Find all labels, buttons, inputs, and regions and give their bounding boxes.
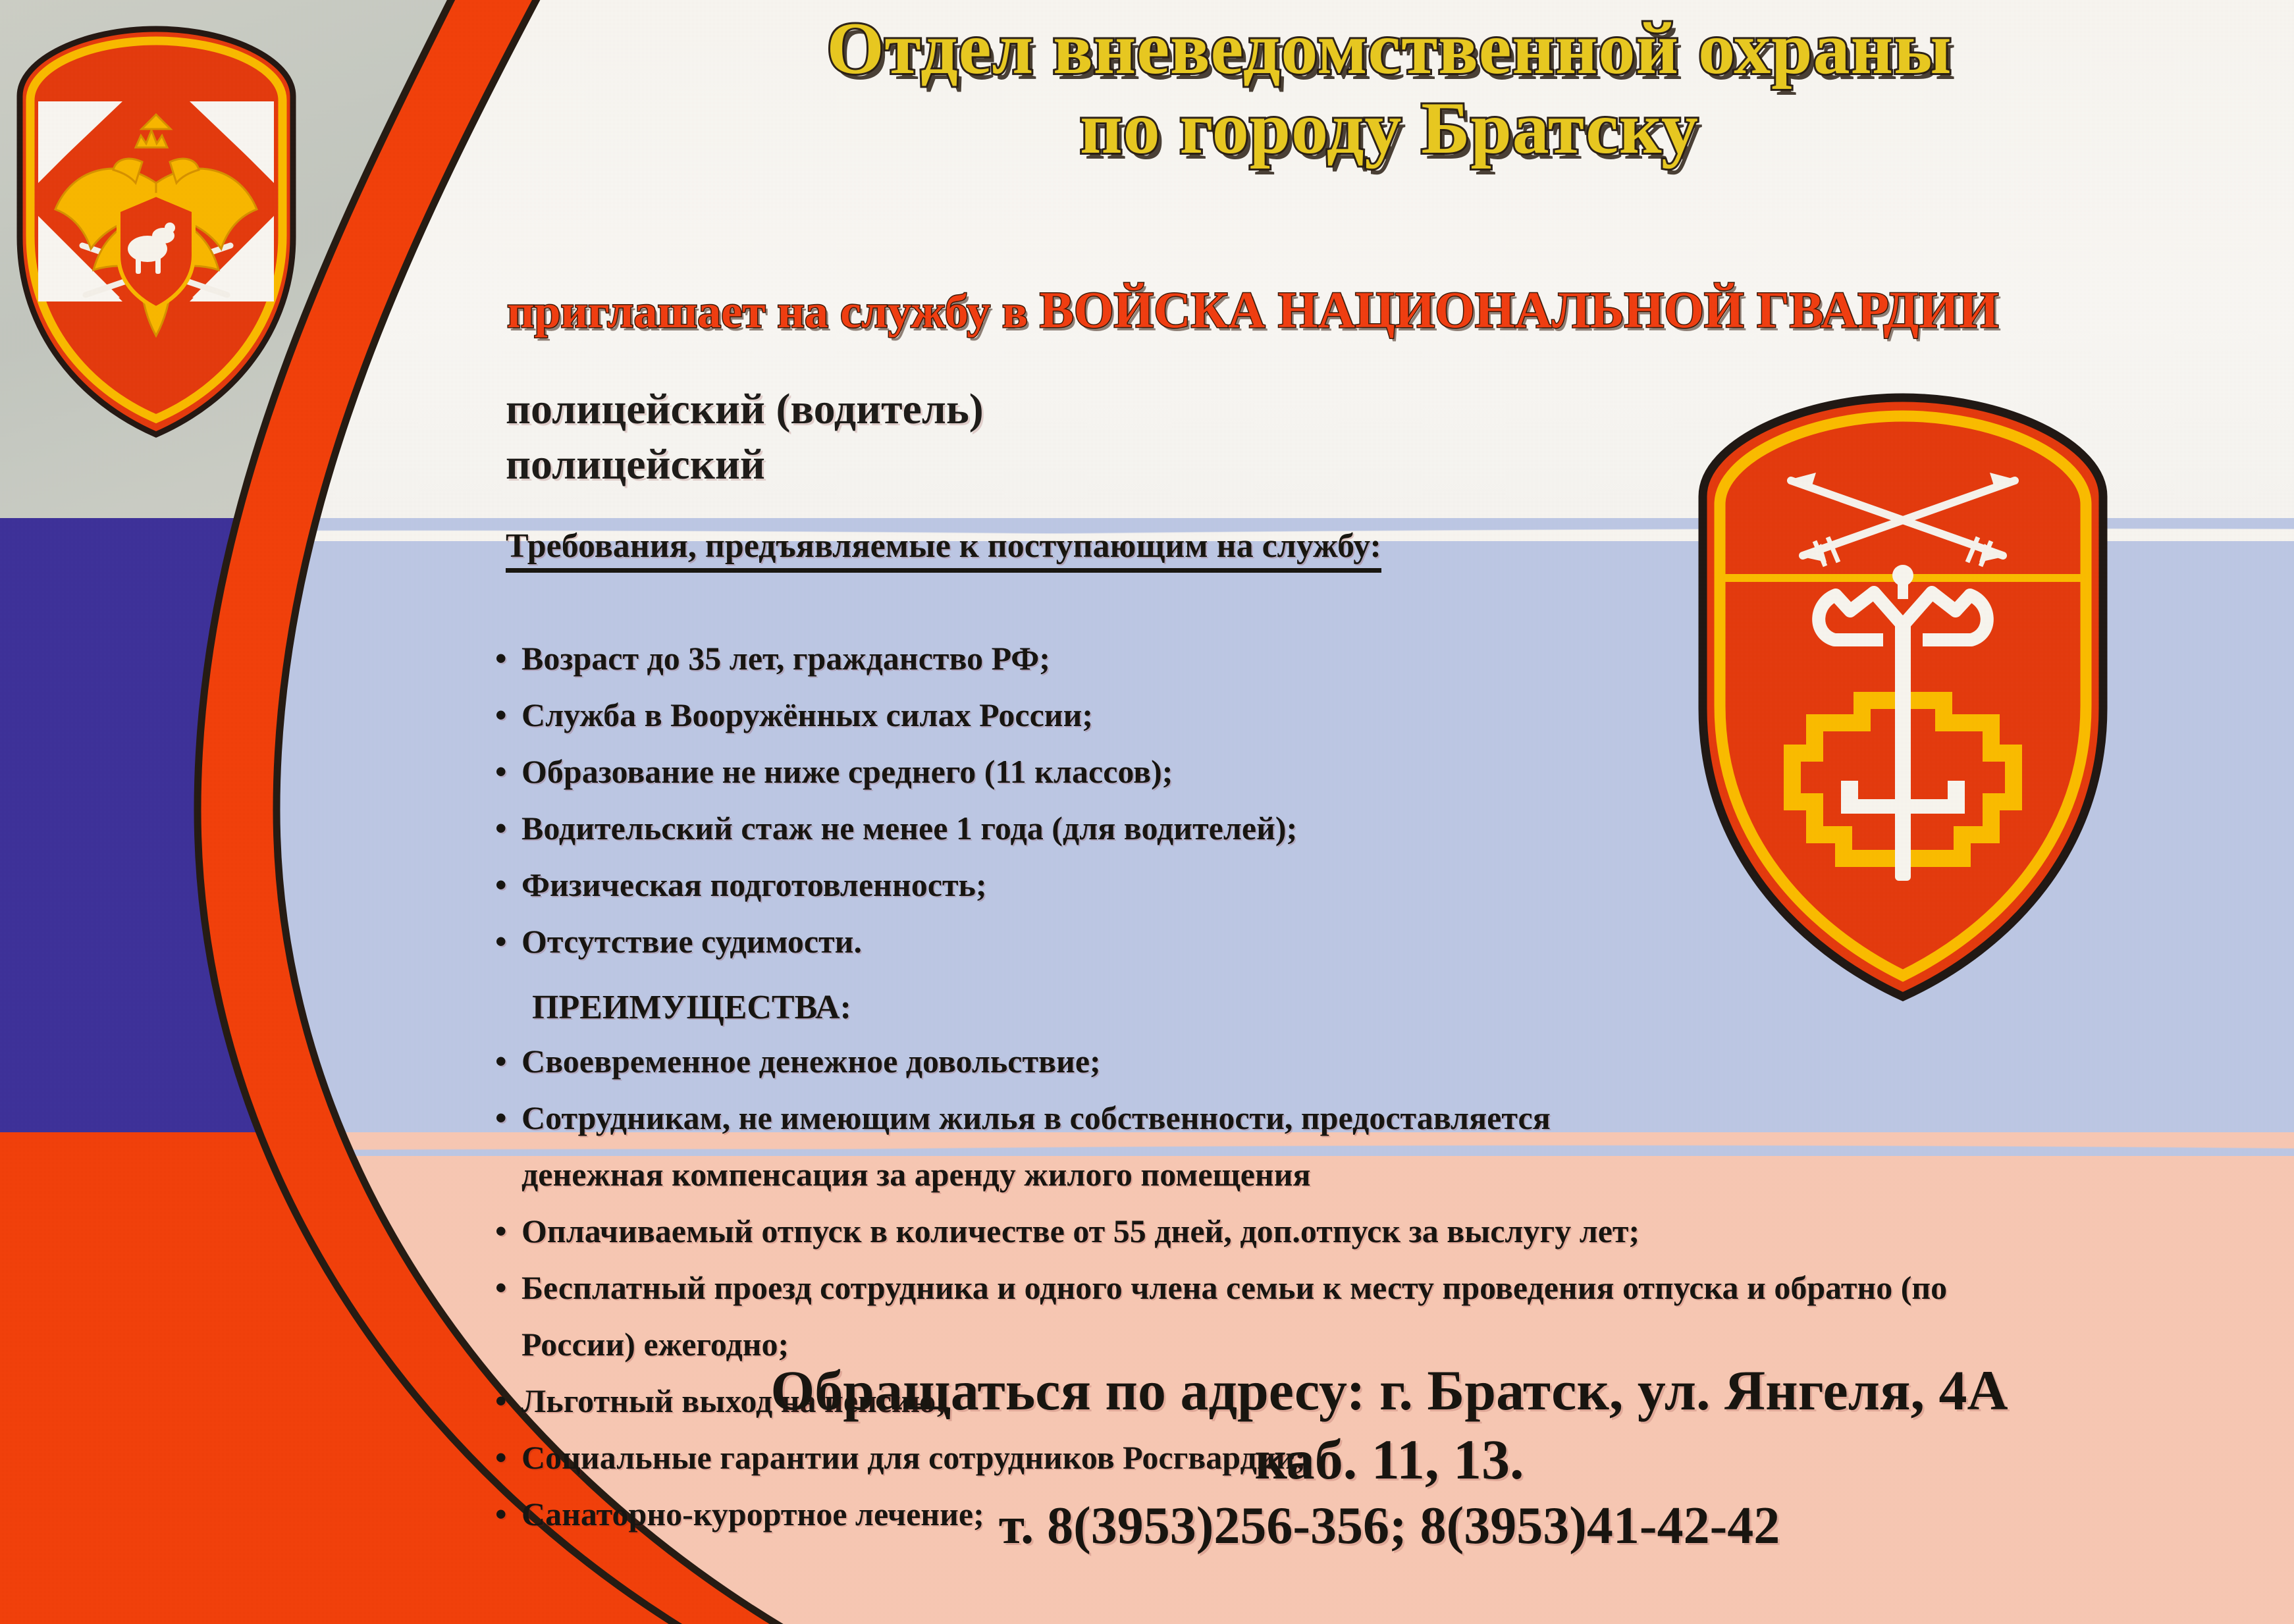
advantage-item-continuation: денежная компенсация за аренду жилого по… — [495, 1151, 2247, 1198]
requirement-item: Отсутствие судимости. — [495, 918, 2247, 965]
requirements-heading: Требования, предъявляемые к поступающим … — [506, 527, 1381, 573]
advantage-item: Своевременное денежное довольствие; — [495, 1037, 2247, 1085]
invitation-line: приглашает на службу в ВОЙСКА НАЦИОНАЛЬН… — [507, 284, 2278, 336]
requirement-item: Водительский стаж не менее 1 года (для в… — [495, 804, 2247, 852]
advantage-item: Оплачиваемый отпуск в количестве от 55 д… — [495, 1207, 2247, 1255]
requirement-item: Служба в Вооружённых силах России; — [495, 691, 2247, 739]
invitation-caps: ВОЙСКА НАЦИОНАЛЬНОЙ ГВАРДИИ — [1040, 281, 1999, 338]
requirement-item: Возраст до 35 лет, гражданство РФ; — [495, 635, 2247, 682]
position-item: полицейский — [506, 437, 1625, 492]
advantage-item: Сотрудникам, не имеющим жилья в собствен… — [495, 1094, 2247, 1141]
position-item: полицейский (водитель) — [506, 382, 1625, 437]
page-title: Отдел вневедомственной охраны по городу … — [500, 9, 2278, 169]
contact-block: Обращаться по адресу: г. Братск, ул. Янг… — [593, 1356, 2186, 1558]
contact-room: каб. 11, 13. — [593, 1425, 2186, 1494]
poster-content: Отдел вневедомственной охраны по городу … — [0, 0, 2294, 1624]
contact-phones: т. 8(3953)256-356; 8(3953)41-42-42 — [593, 1494, 2186, 1559]
requirement-item: Образование не ниже среднего (11 классов… — [495, 748, 2247, 795]
requirement-item: Физическая подготовленность; — [495, 861, 2247, 908]
title-line-1: Отдел вневедомственной охраны — [826, 8, 1952, 90]
advantage-item: Бесплатный проезд сотрудника и одного чл… — [495, 1264, 2247, 1311]
recruitment-poster: Отдел вневедомственной охраны по городу … — [0, 0, 2294, 1624]
advantages-heading: ПРЕИМУЩЕСТВА: — [495, 982, 2247, 1034]
positions-list: полицейский (водитель) полицейский — [506, 382, 1625, 493]
title-line-2: по городу Братску — [500, 89, 2278, 169]
invitation-prefix: приглашает на службу в — [507, 285, 1040, 338]
contact-address: Обращаться по адресу: г. Братск, ул. Янг… — [593, 1356, 2186, 1425]
list-spacer — [495, 612, 2247, 635]
